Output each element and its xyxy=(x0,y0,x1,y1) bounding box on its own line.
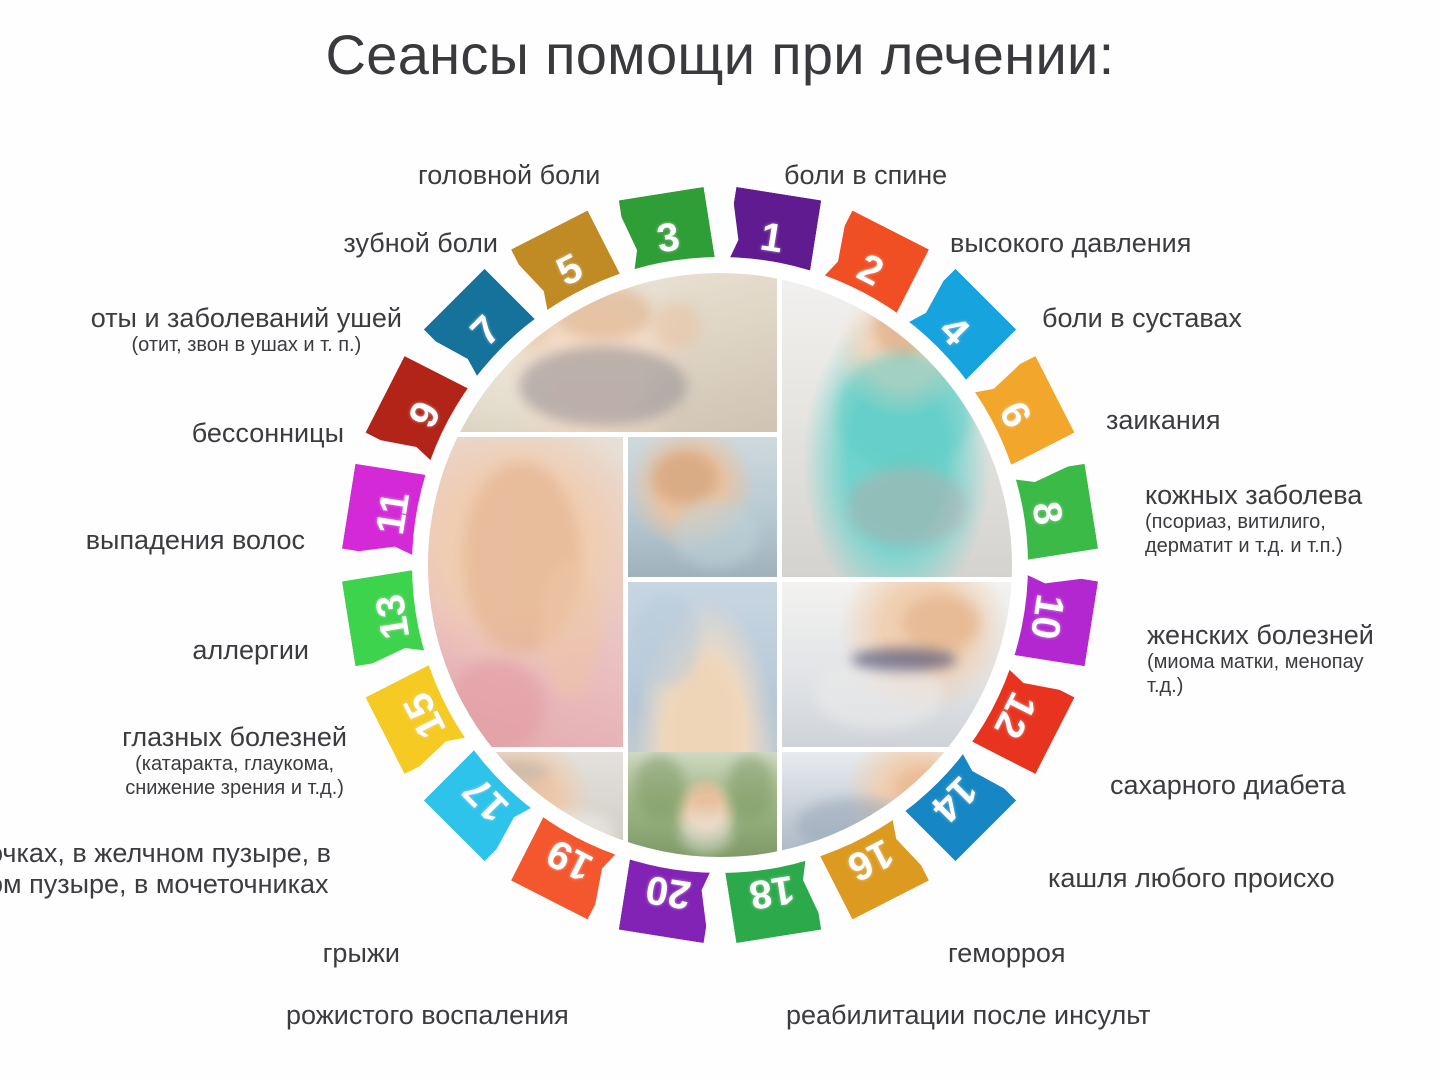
photo-collage xyxy=(428,273,1012,857)
label-main: аллергии xyxy=(192,635,309,665)
label-main: женских болезней xyxy=(1147,620,1374,650)
page-title: Сеансы помощи при лечении: xyxy=(0,22,1440,87)
woman-headache-photo xyxy=(428,273,777,432)
label-headache: головной боли xyxy=(418,160,600,190)
label-eye-diseases: глазных болезней (катаракта, глаукома,сн… xyxy=(122,722,347,800)
label-main: глазных болезней xyxy=(122,722,347,752)
man-allergy-sneeze-photo xyxy=(628,752,777,857)
label-allergy: аллергии xyxy=(192,635,309,665)
label-main: боли в спине xyxy=(784,160,947,190)
label-high-blood-pressure: высокого давления xyxy=(950,228,1191,258)
label-cough: кашля любого происхо xyxy=(1048,863,1335,893)
label-main: геморроя xyxy=(948,938,1066,968)
label-sub: (псориаз, витилиго,дерматит и т.д. и т.п… xyxy=(1145,510,1362,558)
label-main: боли в суставах xyxy=(1042,303,1242,333)
man-ear-pain-photo xyxy=(628,437,777,576)
label-main: кожных заболева xyxy=(1145,480,1362,510)
infographic-canvas: Сеансы помощи при лечении: 1 2 4 6 8 10 xyxy=(0,0,1440,1080)
label-insomnia: бессонницы xyxy=(192,418,344,448)
label-main: кашля любого происхо xyxy=(1048,863,1335,893)
woman-cough-photo xyxy=(782,752,1012,857)
label-main: бессонницы xyxy=(192,418,344,448)
label-joint-pain: боли в суставах xyxy=(1042,303,1242,333)
label-main: очках, в желчном пузыре, в xyxy=(0,838,331,868)
treatment-sessions-wheel: 1 2 4 6 8 10 12 14 xyxy=(340,185,1100,945)
label-sub: (отит, звон в ушах и т. п.) xyxy=(91,333,402,357)
label-ear-diseases: оты и заболеваний ушей (отит, звон в уша… xyxy=(91,303,402,357)
label-erysipelas: рожистого воспаления xyxy=(286,1000,569,1030)
man-hair-loss-photo xyxy=(428,752,623,857)
label-stones: очках, в желчном пузыре, в ом пузыре, в … xyxy=(0,838,331,901)
label-main: зубной боли xyxy=(343,228,498,258)
label-diabetes: сахарного диабета xyxy=(1110,770,1346,800)
label-back-pain: боли в спине xyxy=(784,160,947,190)
label-hernia: грыжи xyxy=(323,938,400,968)
label-toothache: зубной боли xyxy=(343,228,498,258)
diabetes-insulin-photo xyxy=(782,582,1012,747)
label-sub: ом пузыре, в мочеточниках xyxy=(0,868,331,900)
label-sub: (миома матки, менопаут.д.) xyxy=(1147,650,1374,698)
label-main: грыжи xyxy=(323,938,400,968)
man-toothache-photo xyxy=(428,437,623,746)
label-main: рожистого воспаления xyxy=(286,1000,569,1030)
label-main: заикания xyxy=(1106,405,1221,435)
label-womens-diseases: женских болезней (миома матки, менопаут.… xyxy=(1147,620,1374,698)
label-skin-diseases: кожных заболева (псориаз, витилиго,дерма… xyxy=(1145,480,1362,558)
collage-grid xyxy=(428,273,1012,857)
label-stroke-rehab: реабилитации после инсульт xyxy=(786,1000,1151,1030)
label-main: оты и заболеваний ушей xyxy=(91,303,402,333)
label-hair-loss: выпадения волос xyxy=(86,525,305,555)
label-main: реабилитации после инсульт xyxy=(786,1000,1151,1030)
label-sub: (катаракта, глаукома,снижение зрения и т… xyxy=(122,752,347,800)
label-hemorrhoids: геморроя xyxy=(948,938,1066,968)
label-stuttering: заикания xyxy=(1106,405,1221,435)
man-back-pain-photo xyxy=(782,273,1012,577)
label-main: сахарного диабета xyxy=(1110,770,1346,800)
label-main: высокого давления xyxy=(950,228,1191,258)
label-main: выпадения волос xyxy=(86,525,305,555)
label-main: головной боли xyxy=(418,160,600,190)
